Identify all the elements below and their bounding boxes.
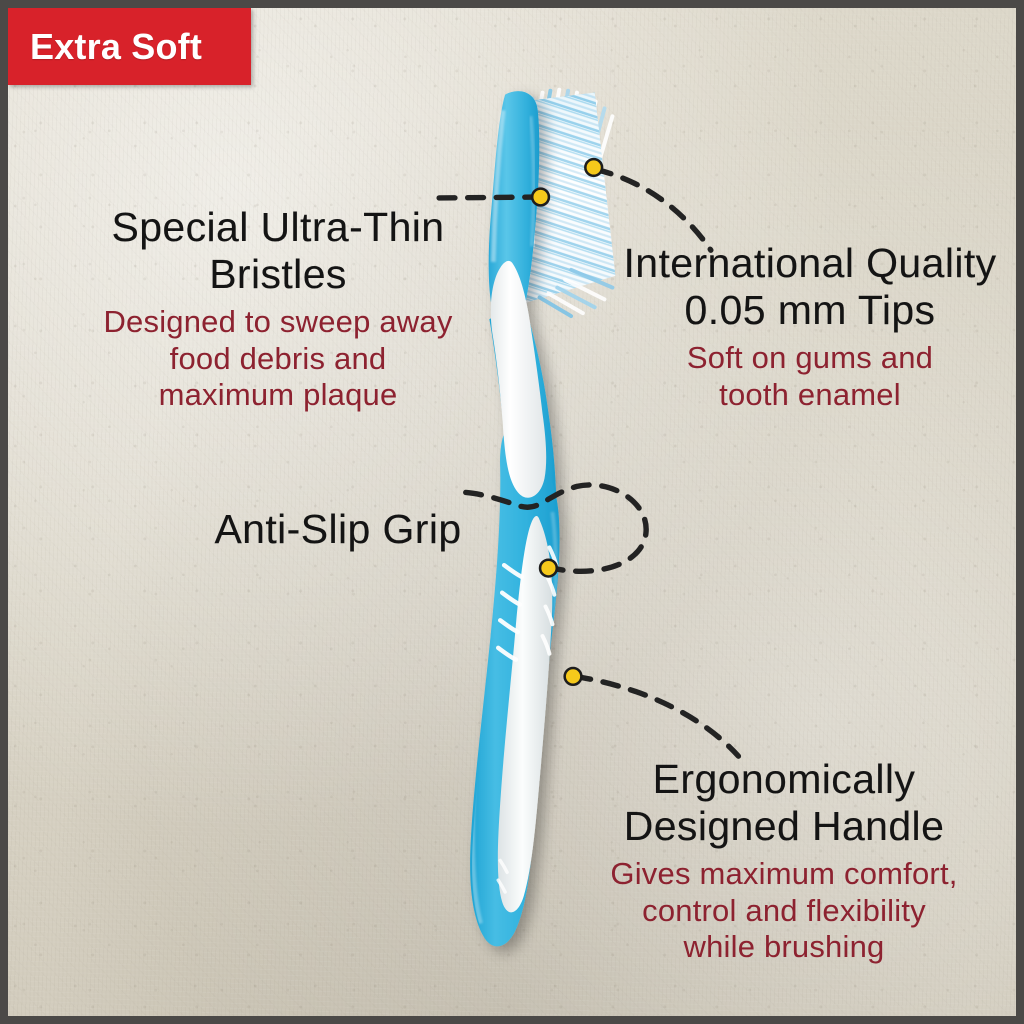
marker-dot-handle [565, 668, 582, 685]
marker-dot-grip [540, 560, 557, 577]
marker-dot-bristles [532, 189, 549, 206]
connector-bristles [435, 197, 540, 198]
callout-bristles-subtext: Designed to sweep away food debris and m… [68, 304, 488, 414]
callout-bristles-heading: Special Ultra-Thin Bristles [68, 204, 488, 298]
callout-tips-subtext: Soft on gums and tooth enamel [602, 340, 1018, 413]
callout-tips: International Quality 0.05 mm Tips Soft … [602, 240, 1018, 413]
connector-handle [575, 676, 738, 756]
callout-handle: Ergonomically Designed Handle Gives maxi… [574, 756, 994, 966]
callout-bristles: Special Ultra-Thin Bristles Designed to … [68, 204, 488, 414]
callout-handle-subtext: Gives maximum comfort, control and flexi… [574, 856, 994, 966]
connector-tips [596, 169, 711, 250]
callout-grip-heading: Anti-Slip Grip [188, 506, 488, 553]
marker-dot-tips [585, 159, 602, 176]
callout-tips-heading: International Quality 0.05 mm Tips [602, 240, 1018, 334]
badge-label: Extra Soft [8, 26, 202, 68]
connector-grip [464, 485, 646, 571]
infographic-canvas: Extra Soft Special Ultra-Thin Bristles D… [0, 0, 1024, 1024]
callout-handle-heading: Ergonomically Designed Handle [574, 756, 994, 850]
callout-markers [532, 159, 602, 685]
callout-grip: Anti-Slip Grip [188, 506, 488, 553]
extra-soft-badge: Extra Soft [8, 8, 251, 85]
